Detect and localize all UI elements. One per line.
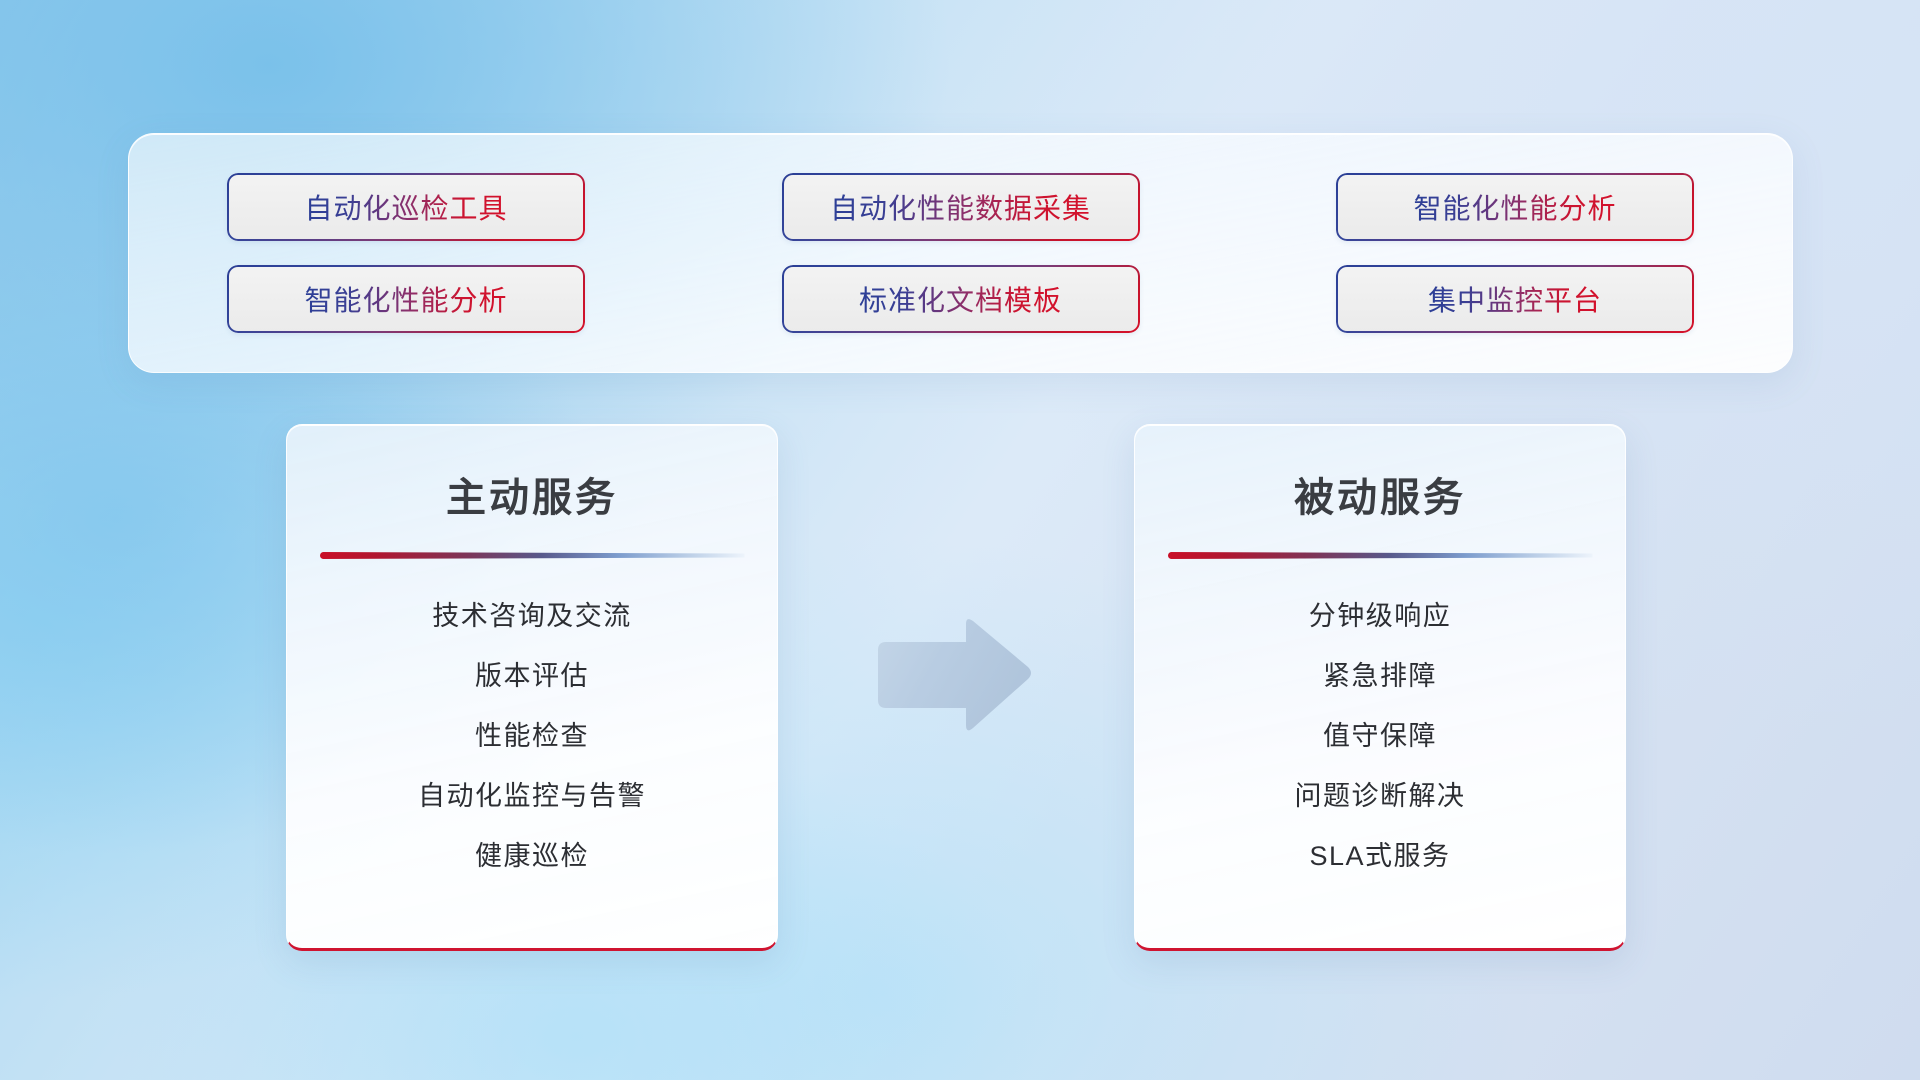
capability-pill-automated-performance-data-collection[interactable]: 自动化性能数据采集 (782, 173, 1140, 241)
capability-pill-intelligent-performance-analysis-2[interactable]: 智能化性能分析 (227, 265, 585, 333)
service-item[interactable]: 健康巡检 (287, 835, 777, 877)
service-item[interactable]: 问题诊断解决 (1135, 775, 1625, 817)
capability-pill-label: 标准化文档模板 (859, 279, 1062, 319)
card-title-reactive: 被动服务 (1135, 465, 1625, 523)
capability-panel: 自动化巡检工具 自动化性能数据采集 智能化性能分析 智能化性能分析 标准化文档模… (128, 133, 1793, 373)
capability-pill-label: 自动化巡检工具 (304, 187, 507, 227)
service-item[interactable]: 分钟级响应 (1135, 595, 1625, 637)
card-divider (1168, 552, 1593, 559)
card-title-proactive: 主动服务 (287, 465, 777, 523)
service-item-list-proactive: 技术咨询及交流 版本评估 性能检查 自动化监控与告警 健康巡检 (287, 595, 777, 877)
service-card-reactive: 被动服务 分钟级响应 紧急排障 值守保障 问题诊断解决 SLA式服务 (1134, 424, 1626, 951)
capability-pill-intelligent-performance-analysis[interactable]: 智能化性能分析 (1336, 173, 1694, 241)
service-card-proactive: 主动服务 技术咨询及交流 版本评估 性能检查 自动化监控与告警 健康巡检 (286, 424, 778, 951)
service-item[interactable]: 性能检查 (287, 715, 777, 757)
capability-pill-centralized-monitoring-platform[interactable]: 集中监控平台 (1336, 265, 1694, 333)
capability-pill-label: 智能化性能分析 (1413, 187, 1616, 227)
service-item[interactable]: 技术咨询及交流 (287, 595, 777, 637)
capability-pill-automated-inspection-tool[interactable]: 自动化巡检工具 (227, 173, 585, 241)
capability-pill-label: 集中监控平台 (1428, 279, 1602, 319)
capability-row-1: 自动化巡检工具 自动化性能数据采集 智能化性能分析 (227, 173, 1694, 241)
arrow-right-icon (874, 616, 1034, 734)
service-item-list-reactive: 分钟级响应 紧急排障 值守保障 问题诊断解决 SLA式服务 (1135, 595, 1625, 877)
service-item[interactable]: SLA式服务 (1135, 835, 1625, 877)
service-item[interactable]: 值守保障 (1135, 715, 1625, 757)
capability-pill-label: 智能化性能分析 (304, 279, 507, 319)
service-item[interactable]: 自动化监控与告警 (287, 775, 777, 817)
service-item[interactable]: 紧急排障 (1135, 655, 1625, 697)
capability-pill-standardized-document-template[interactable]: 标准化文档模板 (782, 265, 1140, 333)
service-item[interactable]: 版本评估 (287, 655, 777, 697)
capability-row-2: 智能化性能分析 标准化文档模板 集中监控平台 (227, 265, 1694, 333)
card-divider (320, 552, 745, 559)
capability-pill-label: 自动化性能数据采集 (830, 187, 1091, 227)
diagram-canvas: 自动化巡检工具 自动化性能数据采集 智能化性能分析 智能化性能分析 标准化文档模… (0, 0, 1920, 1080)
